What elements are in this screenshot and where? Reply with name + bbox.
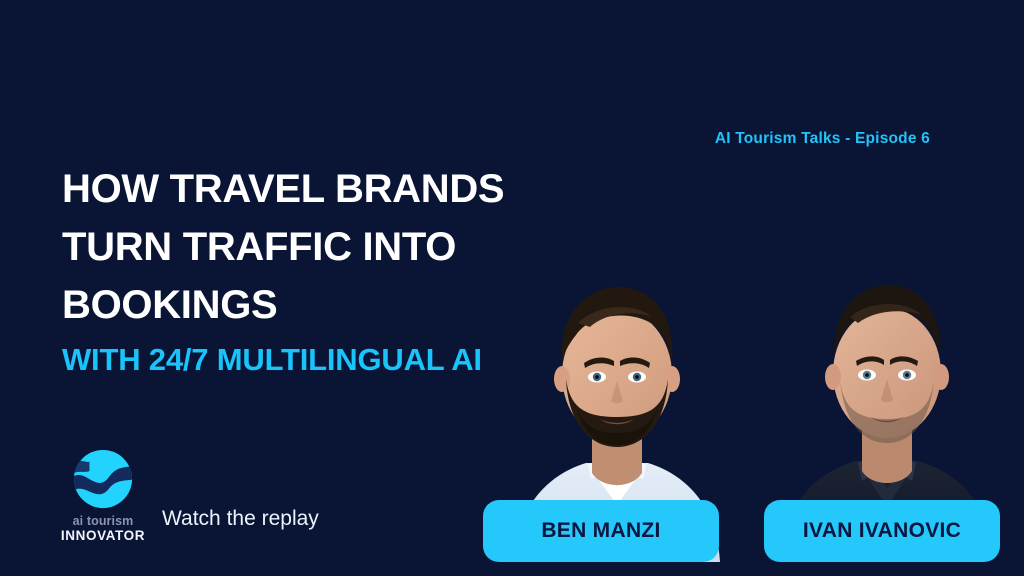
episode-label: AI Tourism Talks - Episode 6 <box>0 130 930 148</box>
webinar-promo-slide: AI Tourism Talks - Episode 6 HOW TRAVEL … <box>0 0 1024 576</box>
speaker-name-badge-ben: BEN MANZI <box>483 500 719 562</box>
speaker-name-badge-ivan: IVAN IVANOVIC <box>764 500 1000 562</box>
headline-line-1: HOW TRAVEL BRANDS <box>62 160 602 218</box>
logo-wordmark-top: ai tourism <box>73 514 134 528</box>
watch-replay-label[interactable]: Watch the replay <box>162 507 319 544</box>
speaker-name-ivan: IVAN IVANOVIC <box>803 519 961 543</box>
brand-logo: ai tourism INNOVATOR <box>62 448 144 544</box>
logo-lockup: ai tourism INNOVATOR Watch the replay <box>62 448 319 544</box>
logo-wordmark-bottom: INNOVATOR <box>61 528 145 544</box>
globe-wave-icon <box>72 448 134 510</box>
speaker-name-ben: BEN MANZI <box>541 519 660 543</box>
